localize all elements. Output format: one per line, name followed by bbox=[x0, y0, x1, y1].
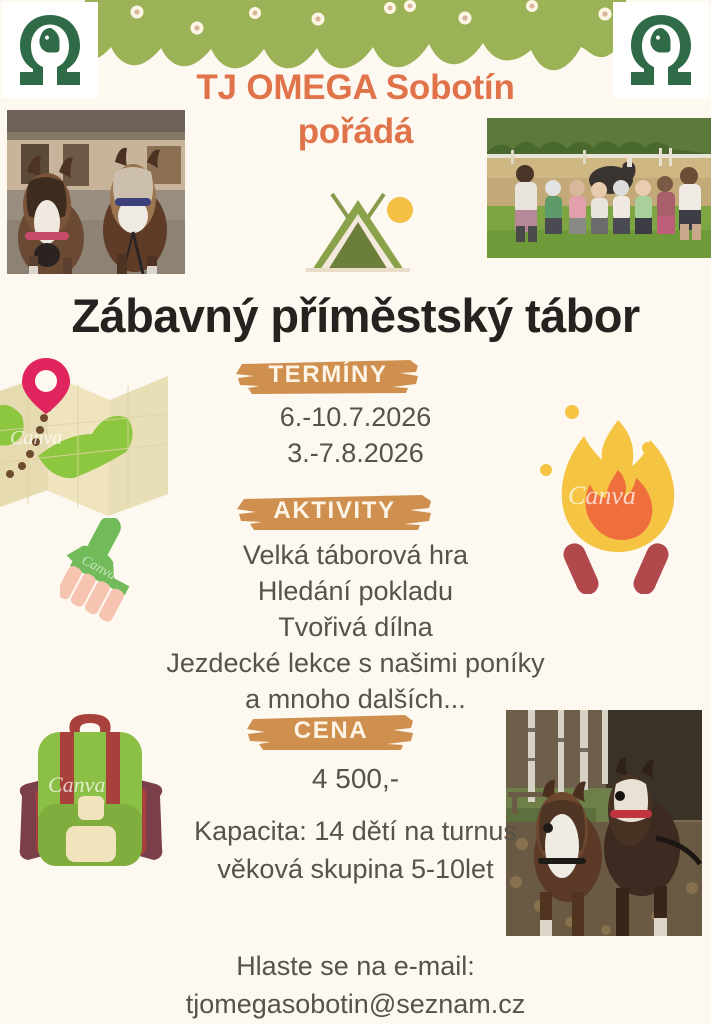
club-name: TJ OMEGA Sobotín bbox=[0, 66, 711, 110]
tent-icon bbox=[296, 188, 424, 280]
date-line-2: 3.-7.8.2026 bbox=[0, 436, 711, 472]
price-value: 4 500,- bbox=[0, 760, 711, 797]
club-organizes-word: pořádá bbox=[0, 110, 711, 154]
contact-block: Hlaste se na e-mail: tjomegasobotin@sezn… bbox=[0, 948, 711, 1024]
top-scalloped-banner bbox=[85, 0, 626, 72]
capacity-block: Kapacita: 14 dětí na turnus věková skupi… bbox=[0, 812, 711, 889]
section-heading-terminy-label: TERMÍNY bbox=[232, 356, 424, 396]
section-heading-aktivity-label: AKTIVITY bbox=[232, 492, 437, 532]
section-heading-terminy: TERMÍNY bbox=[232, 356, 424, 396]
activity-line-4: Jezdecké lekce s našimi poníky bbox=[0, 646, 711, 682]
capacity-line-2: věková skupina 5-10let bbox=[0, 850, 711, 888]
capacity-line-1: Kapacita: 14 dětí na turnus bbox=[0, 812, 711, 850]
contact-email[interactable]: tjomegasobotin@seznam.cz bbox=[0, 986, 711, 1024]
activity-line-3: Tvořivá dílna bbox=[0, 610, 711, 646]
camp-poster: TJ OMEGA Sobotín pořádá bbox=[0, 0, 711, 1024]
activity-line-2: Hledání pokladu bbox=[0, 574, 711, 610]
activity-line-1: Velká táborová hra bbox=[0, 538, 711, 574]
contact-prompt: Hlaste se na e-mail: bbox=[0, 948, 711, 986]
activities-block: Velká táborová hra Hledání pokladu Tvoři… bbox=[0, 538, 711, 718]
club-heading: TJ OMEGA Sobotín pořádá bbox=[0, 66, 711, 154]
section-heading-cena-label: CENA bbox=[243, 712, 419, 752]
sun-icon bbox=[387, 197, 413, 223]
price-block: 4 500,- bbox=[0, 760, 711, 797]
section-heading-aktivity: AKTIVITY bbox=[232, 492, 437, 532]
page-title: Zábavný příměstský tábor bbox=[0, 288, 711, 343]
dates-block: 6.-10.7.2026 3.-7.8.2026 bbox=[0, 400, 711, 472]
date-line-1: 6.-10.7.2026 bbox=[0, 400, 711, 436]
section-heading-cena: CENA bbox=[243, 712, 419, 752]
